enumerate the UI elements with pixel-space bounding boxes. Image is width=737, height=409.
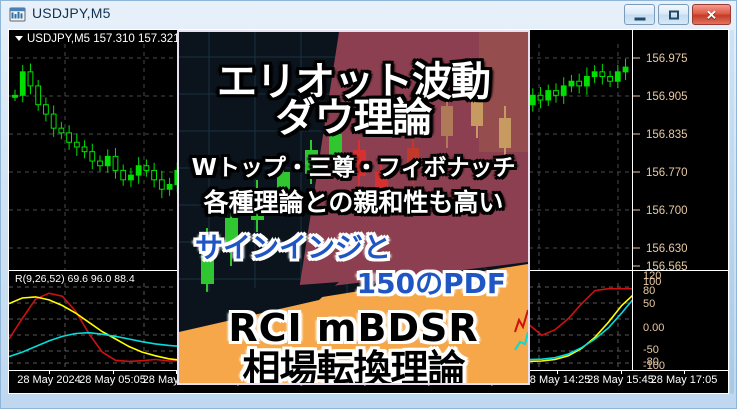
window-right-edge [730, 30, 734, 394]
time-axis-tick [49, 370, 50, 374]
svg-text:0.00: 0.00 [643, 322, 664, 334]
window-title: USDJPY,M5 [32, 5, 111, 21]
window-controls: ✕ [624, 4, 731, 26]
svg-text:156.770: 156.770 [646, 167, 688, 179]
window-frame: USDJPY,M5 ✕ USDJPY,M5 157.310 157.321 15… [0, 0, 737, 409]
time-axis-label: 28 May 17:05 [651, 374, 718, 386]
overlay-text-block: エリオット波動 ダウ理論 Wトップ・三尊・フィボナッチ 各種理論との親和性も高い… [179, 32, 528, 383]
svg-text:156.905: 156.905 [646, 91, 688, 103]
window-titlebar[interactable]: USDJPY,M5 ✕ [1, 1, 736, 28]
overlay-line-2: ダウ理論 [179, 98, 528, 138]
time-axis-tick [621, 370, 622, 374]
app-root: USDJPY,M5 ✕ USDJPY,M5 157.310 157.321 15… [0, 0, 737, 409]
overlay-line-6: 150のPDF [179, 270, 528, 298]
time-axis-label: 28 May 15:45 [587, 374, 654, 386]
svg-text:-50: -50 [643, 344, 659, 356]
minimize-button[interactable] [624, 4, 655, 25]
overlay-line-7: RCI mBDSR [179, 309, 528, 347]
minimize-icon [634, 17, 645, 20]
time-axis-tick [113, 370, 114, 374]
svg-text:80: 80 [643, 285, 655, 297]
overlay-line-4: 各種理論との親和性も高い [179, 190, 528, 215]
time-axis-tick [684, 370, 685, 374]
time-axis-label: 28 May 05:05 [79, 374, 146, 386]
overlay-line-3: Wトップ・三尊・フィボナッチ [179, 157, 528, 180]
svg-text:156.700: 156.700 [646, 205, 688, 217]
time-axis-tick [557, 370, 558, 374]
maximize-icon [669, 10, 679, 19]
promo-overlay-banner[interactable]: エリオット波動 ダウ理論 Wトップ・三尊・フィボナッチ 各種理論との親和性も高い… [177, 30, 530, 385]
chevron-down-icon[interactable] [15, 36, 23, 41]
mt4-chart-icon [9, 6, 26, 23]
indicator-axis: 12010080500.00-50-80-100 [632, 271, 728, 371]
svg-text:50: 50 [643, 298, 655, 310]
svg-text:156.630: 156.630 [646, 243, 688, 255]
time-axis-label: 28 May 2024 [17, 374, 81, 386]
svg-text:156.975: 156.975 [646, 53, 688, 65]
svg-text:156.565: 156.565 [646, 261, 688, 270]
svg-text:156.835: 156.835 [646, 129, 688, 141]
price-axis: 156.975156.905156.835156.770156.700156.6… [632, 30, 728, 270]
indicator-header: R(9,26,52) 69.6 96.0 88.4 [15, 273, 135, 285]
time-axis-label: 28 May 14:25 [524, 374, 591, 386]
maximize-button[interactable] [658, 4, 689, 25]
close-button[interactable]: ✕ [692, 4, 731, 25]
overlay-line-5: サインインジと [179, 234, 528, 262]
overlay-line-8: 相場転換理論 [179, 350, 528, 385]
close-icon: ✕ [706, 8, 717, 21]
